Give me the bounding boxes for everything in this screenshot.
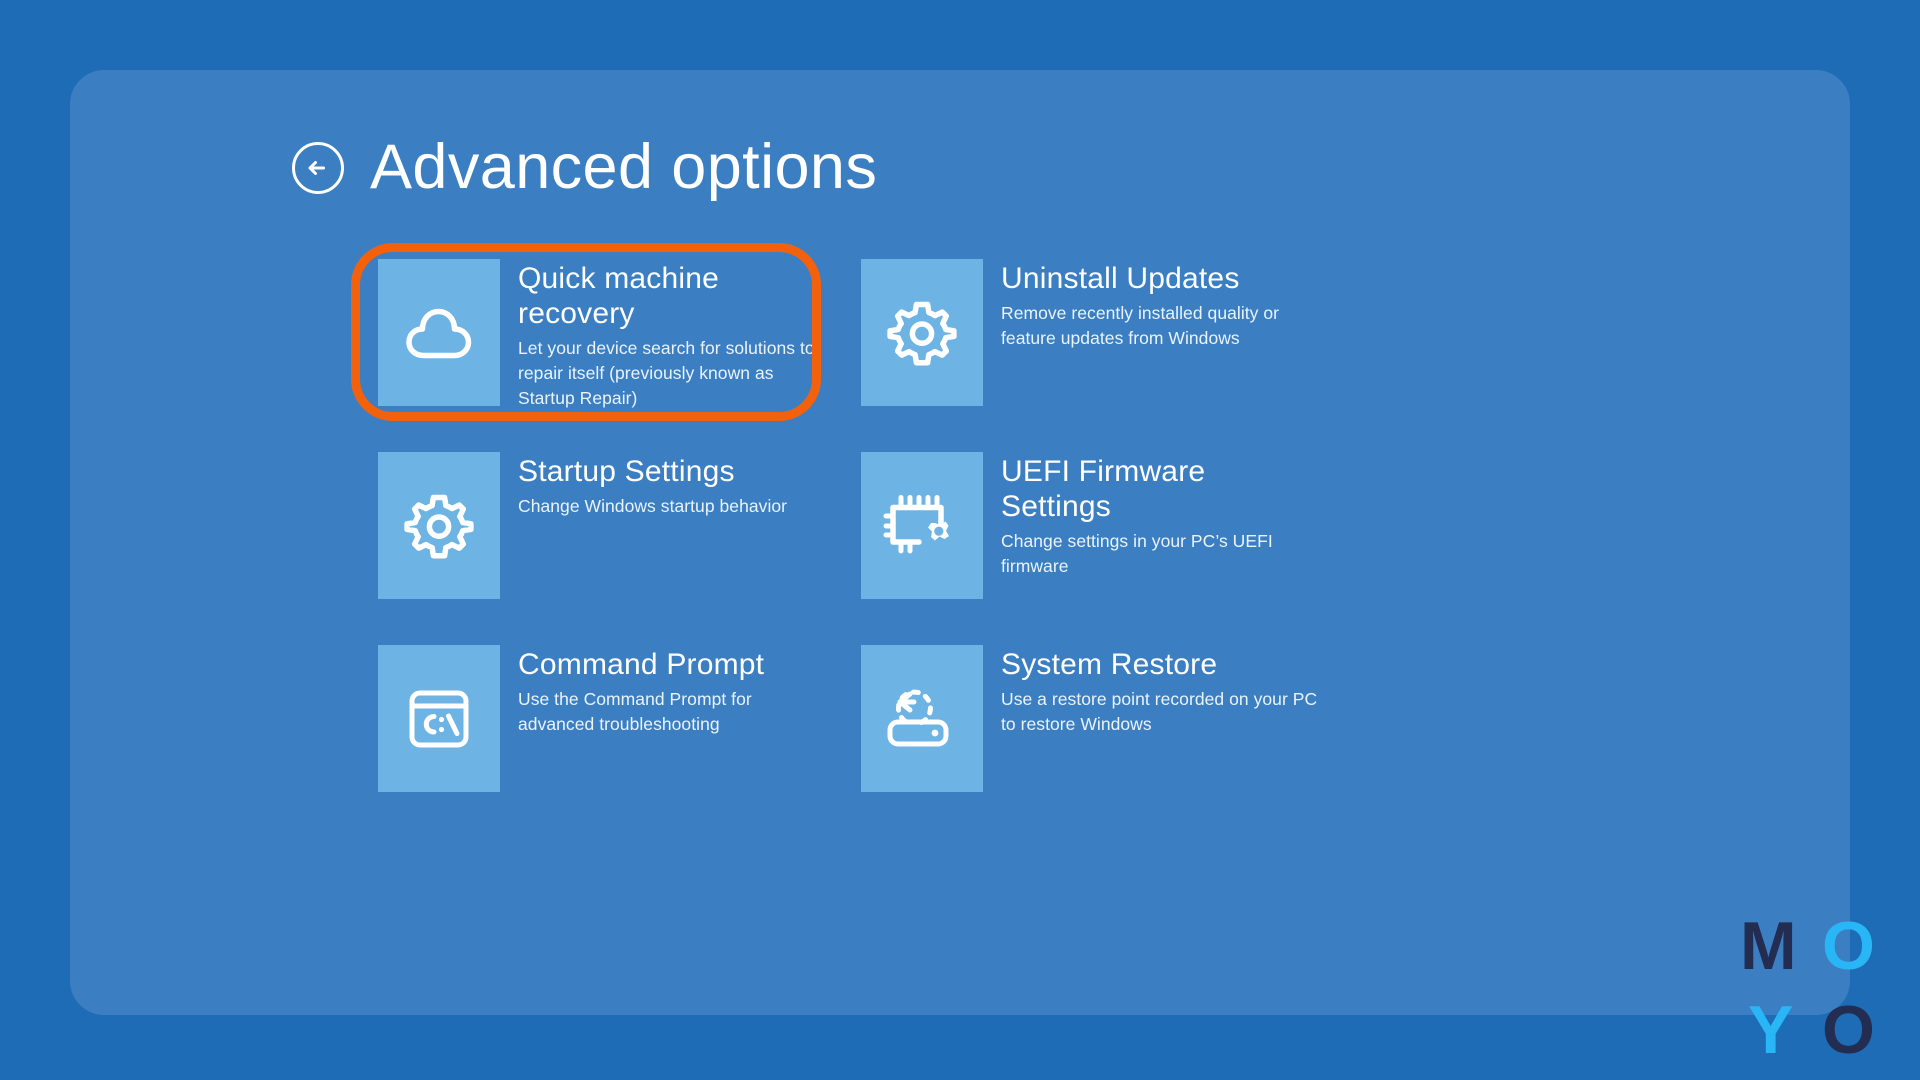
option-uninstall-updates[interactable]: Uninstall Updates Remove recently instal…	[861, 252, 1344, 445]
chip-gear-icon	[861, 452, 983, 599]
option-text: Quick machine recovery Let your device s…	[518, 259, 818, 411]
option-startup-settings[interactable]: Startup Settings Change Windows startup …	[378, 445, 861, 638]
option-text: Uninstall Updates Remove recently instal…	[1001, 259, 1321, 351]
gear-icon	[861, 259, 983, 406]
advanced-options-grid: Quick machine recovery Let your device s…	[378, 252, 1538, 831]
option-text: Startup Settings Change Windows startup …	[518, 452, 787, 519]
option-quick-machine-recovery[interactable]: Quick machine recovery Let your device s…	[378, 252, 861, 445]
option-text: System Restore Use a restore point recor…	[1001, 645, 1321, 737]
watermark-letter-o1: O	[1822, 912, 1875, 980]
option-title: Command Prompt	[518, 647, 818, 682]
option-title: Uninstall Updates	[1001, 261, 1261, 296]
recovery-screen: Advanced options Quick machine recovery …	[0, 0, 1920, 1080]
option-title: UEFI Firmware Settings	[1001, 454, 1261, 524]
option-title: Startup Settings	[518, 454, 787, 489]
drive-restore-icon	[861, 645, 983, 792]
option-description: Use a restore point recorded on your PC …	[1001, 687, 1321, 737]
page-header: Advanced options	[290, 136, 877, 199]
option-description: Use the Command Prompt for advanced trou…	[518, 687, 818, 737]
watermark-letter-m: M	[1740, 912, 1797, 980]
option-title: System Restore	[1001, 647, 1261, 682]
gear-icon	[378, 452, 500, 599]
option-text: UEFI Firmware Settings Change settings i…	[1001, 452, 1321, 579]
option-title: Quick machine recovery	[518, 261, 818, 331]
option-text: Command Prompt Use the Command Prompt fo…	[518, 645, 818, 737]
option-uefi-firmware-settings[interactable]: UEFI Firmware Settings Change settings i…	[861, 445, 1344, 638]
option-description: Let your device search for solutions to …	[518, 336, 818, 411]
page-title: Advanced options	[370, 136, 877, 199]
cloud-icon	[378, 259, 500, 406]
back-arrow-circle-icon[interactable]	[290, 140, 346, 196]
moyo-watermark: M O Y O	[1740, 912, 1890, 1072]
option-command-prompt[interactable]: Command Prompt Use the Command Prompt fo…	[378, 638, 861, 831]
option-description: Change settings in your PC’s UEFI firmwa…	[1001, 529, 1321, 579]
watermark-letter-y: Y	[1748, 996, 1793, 1064]
option-description: Change Windows startup behavior	[518, 494, 787, 519]
console-window-icon	[378, 645, 500, 792]
option-system-restore[interactable]: System Restore Use a restore point recor…	[861, 638, 1344, 831]
watermark-letter-o2: O	[1822, 996, 1875, 1064]
option-description: Remove recently installed quality or fea…	[1001, 301, 1321, 351]
